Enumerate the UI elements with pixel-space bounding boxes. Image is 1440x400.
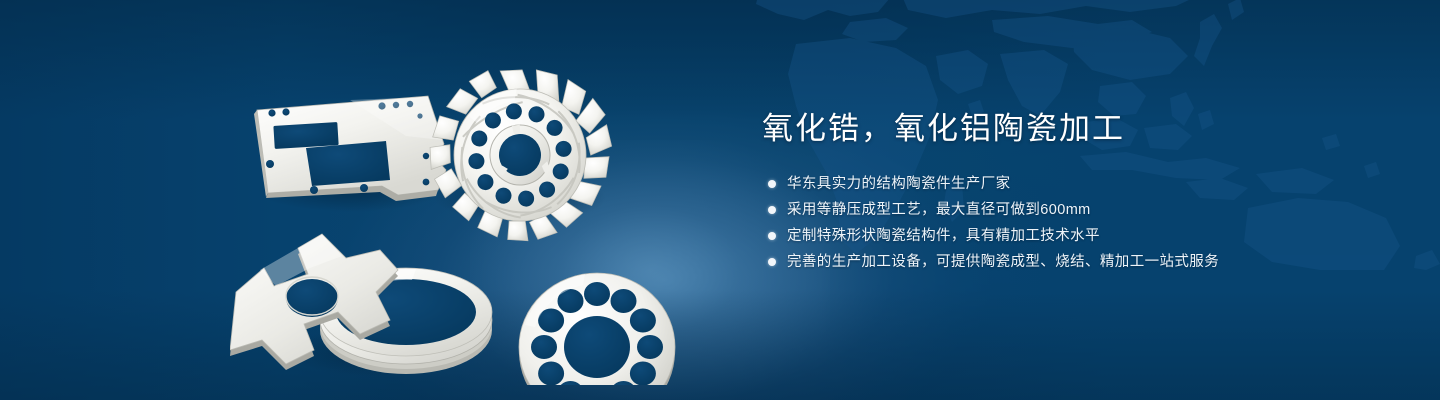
list-item: 完善的生产加工设备，可提供陶瓷成型、烧结、精加工一站式服务 — [762, 249, 1382, 275]
list-item: 定制特殊形状陶瓷结构件，具有精加工技术水平 — [762, 223, 1382, 249]
list-item: 华东具实力的结构陶瓷件生产厂家 — [762, 171, 1382, 197]
page-title: 氧化锆，氧化铝陶瓷加工 — [762, 108, 1382, 150]
ceramic-products-image — [230, 40, 730, 385]
feature-text: 华东具实力的结构陶瓷件生产厂家 — [787, 171, 1011, 197]
bullet-dot-icon — [768, 206, 776, 214]
bullet-dot-icon — [768, 258, 776, 266]
list-item: 采用等静压成型工艺，最大直径可做到600mm — [762, 197, 1382, 223]
feature-list: 华东具实力的结构陶瓷件生产厂家 采用等静压成型工艺，最大直径可做到600mm 定… — [762, 171, 1382, 275]
hero-banner: 氧化锆，氧化铝陶瓷加工 华东具实力的结构陶瓷件生产厂家 采用等静压成型工艺，最大… — [0, 0, 1440, 400]
feature-text: 定制特殊形状陶瓷结构件，具有精加工技术水平 — [787, 223, 1100, 249]
feature-text: 完善的生产加工设备，可提供陶瓷成型、烧结、精加工一站式服务 — [787, 249, 1219, 275]
banner-copy: 氧化锆，氧化铝陶瓷加工 华东具实力的结构陶瓷件生产厂家 采用等静压成型工艺，最大… — [762, 108, 1382, 275]
bullet-dot-icon — [768, 180, 776, 188]
bullet-dot-icon — [768, 232, 776, 240]
feature-text: 采用等静压成型工艺，最大直径可做到600mm — [787, 197, 1091, 223]
